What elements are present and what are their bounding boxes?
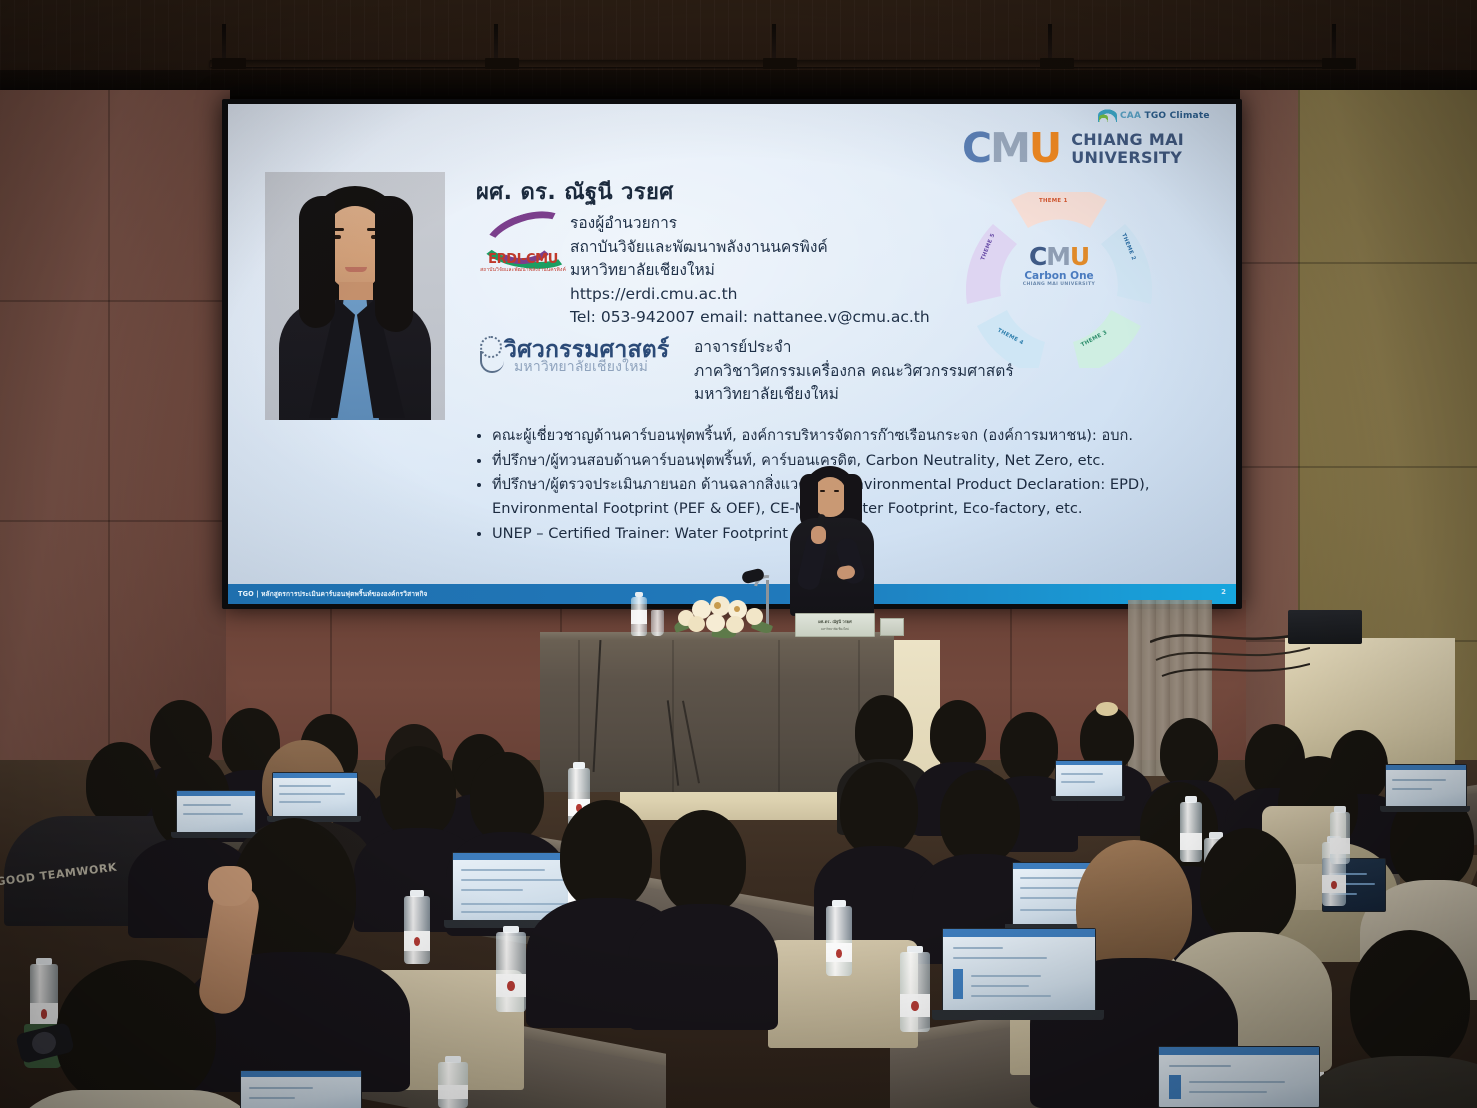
head (930, 700, 986, 768)
laptop-content-line (461, 903, 571, 905)
water-bottle (404, 890, 430, 964)
hook-icon (480, 351, 504, 373)
rose (706, 614, 725, 632)
laptop (240, 1070, 360, 1108)
laptop (272, 772, 356, 824)
laptop-content-line (183, 804, 231, 806)
laptop-content-line (953, 947, 1003, 949)
laptop-content-line (279, 801, 321, 803)
laptop-content-line (183, 813, 243, 815)
speaker-nameplate: ผศ.ดร. ณัฐนี วรยศ มหาวิทยาลัยเชียงใหม่ (795, 613, 875, 637)
bottle-body (826, 906, 852, 976)
laptop (1385, 764, 1465, 814)
head (1350, 930, 1470, 1070)
rail-drop (772, 24, 776, 62)
water-bottle (438, 1056, 468, 1108)
shoulders (628, 904, 778, 1030)
laptop-screen (1385, 764, 1467, 808)
hand (208, 866, 252, 906)
laptop-base (932, 1010, 1104, 1020)
cmu-mark-c: C (962, 124, 990, 172)
laptop-content-line (953, 957, 1047, 959)
affiliation-url: https://erdi.cmu.ac.th (570, 283, 930, 307)
affiliation-contact: Tel: 053-942007 email: nattanee.v@cmu.ac… (570, 306, 930, 330)
head (560, 800, 652, 910)
laptop-titlebar (177, 791, 255, 796)
wheel-center-subtitle: CHIANG MAI UNIVERSITY (1014, 282, 1104, 287)
conference-room-photo: CAA TGO Climate CMU CHIANG MAI UNIVERSIT… (0, 0, 1477, 1108)
bottle-body (404, 896, 430, 964)
flower-centrepiece (672, 594, 776, 640)
rose (746, 608, 763, 625)
tablecloth-fold (778, 637, 780, 792)
bottle-label (631, 610, 647, 624)
presenter-face (814, 477, 846, 517)
rose (726, 616, 744, 633)
laptop-content-line (1392, 788, 1432, 790)
tablecloth-fold (672, 637, 674, 792)
rail-bracket (1040, 58, 1074, 69)
portrait-hair-right (375, 196, 413, 332)
laptop-screen (240, 1070, 362, 1108)
role-line: มหาวิทยาลัยเชียงใหม่ (694, 383, 1014, 407)
cmu-mark-u: U (1029, 124, 1060, 172)
water-bottle (496, 926, 526, 1012)
cmu-wordmark-line1: CHIANG MAI (1071, 131, 1184, 149)
bottle-label (1330, 838, 1350, 853)
laptop-content-line (1169, 1065, 1231, 1067)
affiliation-block: รองผู้อำนวยการ สถาบันวิจัยและพัฒนาพลังงา… (570, 212, 930, 330)
rose (688, 616, 705, 632)
wall-seam (0, 300, 230, 302)
laptop-base (171, 832, 259, 838)
bottle-logo-icon (41, 1009, 48, 1019)
bottle-logo-icon (836, 949, 842, 958)
head (660, 810, 746, 914)
cmu-logo: CMU CHIANG MAI UNIVERSITY (962, 128, 1184, 169)
wall-seam (108, 90, 110, 790)
laptop-base (1380, 806, 1470, 812)
rail-bracket (485, 58, 519, 69)
bullet-item: คณะผู้เชี่ยวชาญด้านคาร์บอนฟุตพริ้นท์, อง… (492, 424, 1190, 448)
bottle-logo-icon (1331, 881, 1337, 889)
laptop-base (1051, 796, 1125, 801)
cmu-wordmark-line2: UNIVERSITY (1071, 149, 1184, 167)
laptop-content-line (1189, 1081, 1285, 1083)
nameplate-title: ผศ.ดร. ณัฐนี วรยศ (796, 618, 874, 625)
cmu-mark-m: M (990, 124, 1029, 172)
bottle-logo-icon (911, 1001, 918, 1011)
rail-drop (1048, 24, 1052, 62)
laptop-screen (1055, 760, 1123, 798)
rail-bracket (763, 58, 797, 69)
bottle-label (438, 1085, 468, 1099)
laptop-content-line (279, 785, 331, 787)
wheel-mark-m: M (1046, 242, 1070, 271)
head (855, 695, 913, 767)
bottle-body (496, 932, 526, 1012)
laptop-content-line (461, 889, 523, 891)
rail-drop (494, 24, 498, 62)
head (380, 746, 456, 838)
laptop-content-line (461, 911, 557, 913)
presenter-eye (820, 490, 825, 492)
laptop-content-line (461, 869, 545, 871)
laptop-screen (176, 790, 256, 834)
laptop-titlebar (1159, 1047, 1319, 1055)
cmu-carbon-one-wheel: THEME 1 THEME 2 THEME 3 THEME 4 THEME 5 … (966, 192, 1152, 368)
water-bottle (826, 900, 852, 976)
bottle-label (1180, 833, 1202, 850)
affiliation-line: สถาบันวิจัยและพัฒนาพลังงานนครพิงค์ (570, 236, 930, 260)
laptop-chart-bar (1169, 1075, 1181, 1099)
tgo-logo-text-main: TGO Climate (1144, 111, 1209, 121)
rail-bracket (1322, 58, 1356, 69)
water-bottle (900, 946, 930, 1032)
water-bottle (1330, 806, 1350, 864)
presenter (778, 466, 886, 614)
cmu-logo-wordmark: CHIANG MAI UNIVERSITY (1071, 131, 1184, 167)
wheel-mark-c: C (1029, 242, 1046, 271)
head (1000, 712, 1058, 784)
left-wall-panel (0, 90, 230, 790)
laptop (1055, 760, 1121, 804)
wheel-theme-label: THEME 1 (1039, 198, 1068, 204)
tgo-climate-logo: CAA TGO Climate (1098, 109, 1210, 122)
presenter-hand-right (811, 526, 826, 544)
head (470, 752, 544, 842)
laptop-titlebar (1056, 761, 1122, 765)
wheel-center-brand: CMU Carbon One CHIANG MAI UNIVERSITY (1014, 244, 1104, 314)
head (1160, 718, 1218, 788)
laptop-screen (942, 928, 1096, 1012)
laptop-content-line (249, 1097, 295, 1099)
laptop (176, 790, 254, 840)
head (840, 762, 918, 856)
laptop-content-line (1392, 779, 1446, 781)
wheel-cmu-mark: CMU (1014, 244, 1104, 269)
back-monitor (1288, 610, 1362, 644)
engineering-faculty-logo: วิศวกรรมศาสตร์ มหาวิทยาลัยเชียงใหม่ (478, 334, 678, 378)
cmu-logo-mark: CMU (962, 128, 1060, 169)
back-cables (1150, 620, 1310, 690)
laptop-content-line (971, 995, 1051, 997)
slide-page-number: 2 (1221, 588, 1226, 596)
portrait-hair-left (299, 196, 335, 328)
laptop-content-line (971, 985, 1029, 987)
rose-center (734, 606, 740, 612)
nameplate-subtitle: มหาวิทยาลัยเชียงใหม่ (796, 627, 874, 632)
rose-center (714, 602, 721, 609)
slide-speaker-name: ผศ. ดร. ณัฐนี วรยศ (476, 174, 674, 209)
wall-seam (1240, 262, 1477, 264)
laptop-titlebar (943, 929, 1095, 937)
laptop (942, 928, 1094, 1024)
laptop-content-line (461, 879, 565, 881)
tgo-logo-text: CAA TGO Climate (1120, 111, 1210, 121)
table-water-bottle (631, 592, 647, 636)
engineering-logo-sub: มหาวิทยาลัยเชียงใหม่ (514, 356, 648, 378)
laptop-content-line (1020, 897, 1076, 899)
laptop-screen (272, 772, 358, 818)
slide-footer-text: TGO | หลักสูตรการประเมินคาร์บอนฟุตพริ้นท… (238, 588, 428, 599)
nameplate-small-right (880, 618, 904, 636)
erdi-logo-text: ERDI-CMU (477, 252, 569, 267)
rail-bracket (212, 58, 246, 69)
projected-slide: CAA TGO Climate CMU CHIANG MAI UNIVERSIT… (228, 104, 1236, 604)
erdi-logo-subtitle: สถาบันวิจัยและพัฒนาพลังงานนครพิงค์ (477, 266, 569, 274)
wheel-center-title: Carbon One (1014, 270, 1104, 282)
laptop-chart-bar (953, 969, 963, 999)
laptop-titlebar (241, 1071, 361, 1077)
tgo-logo-text-light: CAA (1120, 111, 1141, 121)
rail-drop (1332, 24, 1336, 62)
laptop (1158, 1046, 1318, 1108)
laptop-screen (1158, 1046, 1320, 1108)
wheel-mark-u: U (1070, 242, 1089, 271)
bottle-body (900, 952, 930, 1032)
laptop-content-line (249, 1087, 313, 1089)
water-bottle (1180, 796, 1202, 862)
speaker-portrait (265, 172, 445, 420)
laptop-content-line (1061, 773, 1103, 775)
presenter-eye (834, 490, 839, 492)
head (86, 742, 156, 826)
laptop-content-line (971, 975, 1041, 977)
head (56, 960, 216, 1108)
erdi-cmu-logo: ERDI-CMU สถาบันวิจัยและพัฒนาพลังงานนครพิ… (477, 212, 569, 274)
wall-seam (1240, 466, 1477, 468)
drinking-glass (651, 610, 664, 636)
affiliation-line: รองผู้อำนวยการ (570, 212, 930, 236)
head (1200, 828, 1296, 944)
hair-clip-icon (1096, 702, 1118, 716)
wall-seam (0, 520, 230, 522)
bottle-logo-icon (507, 981, 514, 991)
laptop-content-line (279, 793, 345, 795)
laptop-titlebar (273, 773, 357, 778)
laptop-content-line (1189, 1091, 1267, 1093)
portrait-mouth (345, 267, 367, 272)
tgo-swoosh-icon (1098, 109, 1117, 122)
head (940, 770, 1020, 864)
rail-drop (222, 24, 226, 62)
laptop-content-line (1061, 781, 1095, 783)
laptop-titlebar (1386, 765, 1466, 770)
affiliation-line: มหาวิทยาลัยเชียงใหม่ (570, 259, 930, 283)
